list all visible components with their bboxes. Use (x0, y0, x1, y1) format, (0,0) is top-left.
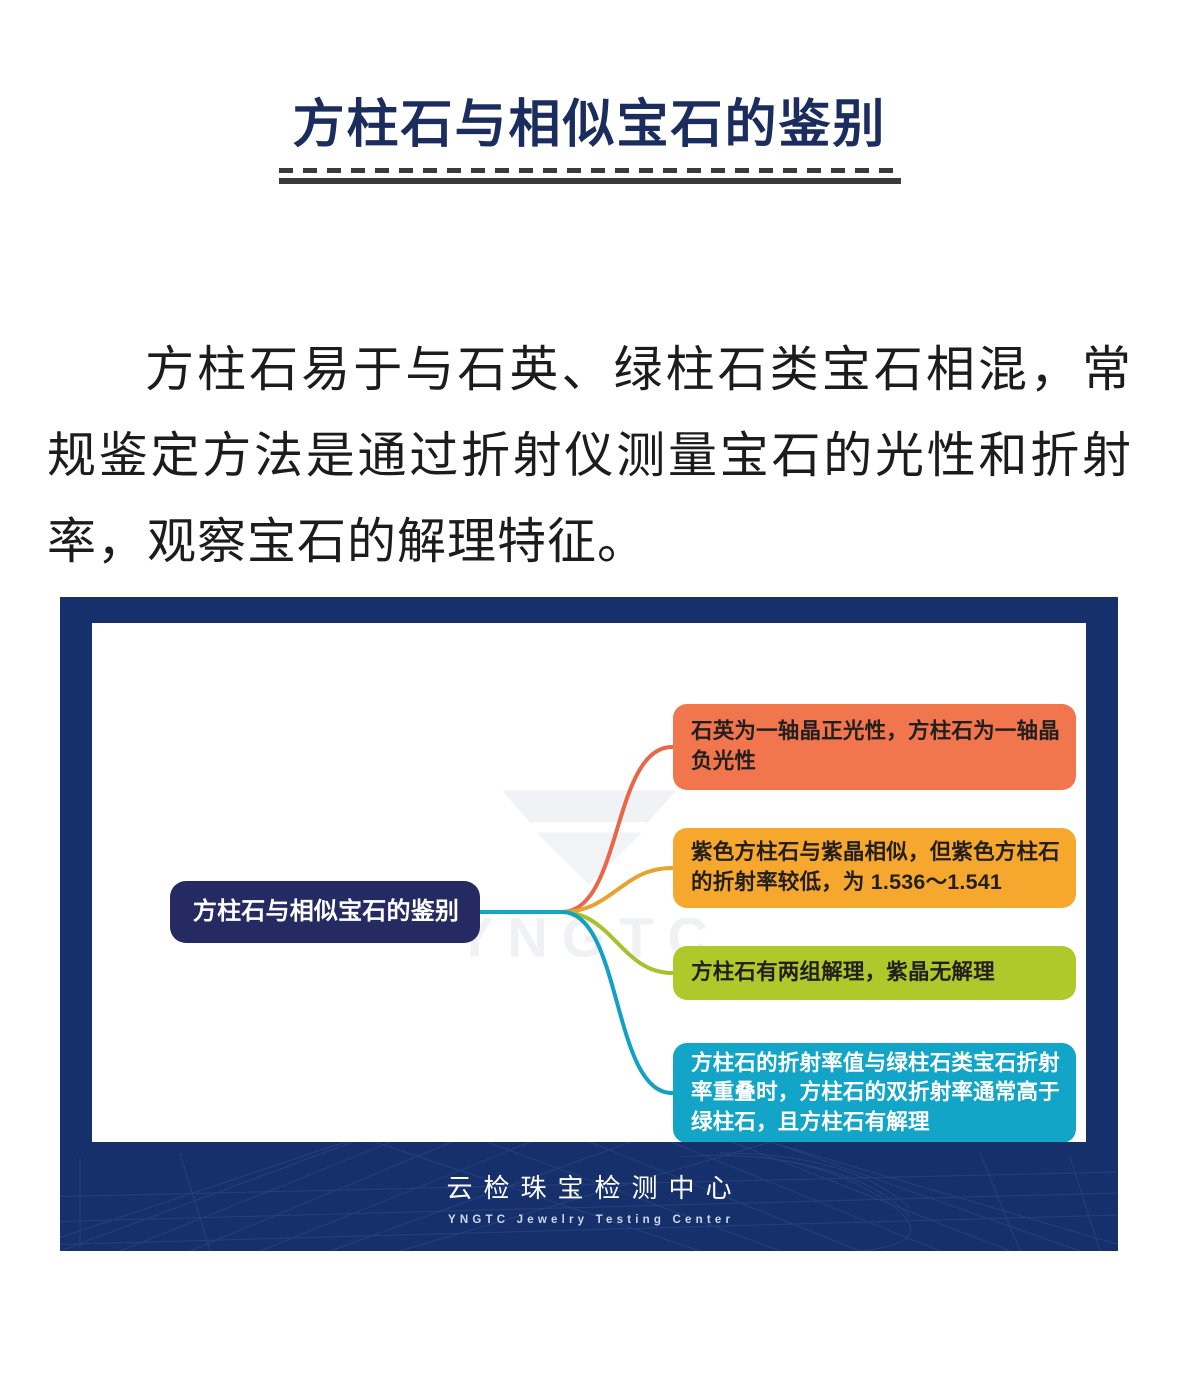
mindmap-root-node[interactable]: 方柱石与相似宝石的鉴别 (170, 881, 480, 943)
mindmap-card: YNGTC 方柱石与相似宝石的鉴别 石英为一轴晶正光性，方柱石 (60, 597, 1118, 1251)
page-title-block: 方柱石与相似宝石的鉴别 (0, 96, 1179, 184)
title-solid-rule (279, 178, 901, 184)
body-paragraph: 方柱石易于与石英、绿柱石类宝石相混，常规鉴定方法是通过折射仪测量宝石的光性和折射… (47, 327, 1132, 585)
footer-company-name-en: YNGTC Jewelry Testing Center (444, 1214, 734, 1226)
mindmap-branch-node-beryl[interactable]: 方柱石的折射率值与绿柱石类宝石折射率重叠时，方柱石的双折射率通常高于绿柱石，且方… (673, 1043, 1076, 1142)
mindmap-root-label: 方柱石与相似宝石的鉴别 (193, 895, 459, 928)
mindmap-branch-label-refractive-index: 紫色方柱石与紫晶相似，但紫色方柱石的折射率较低，为 1.536～1.541 (691, 838, 1060, 897)
mindmap-diagram: 方柱石与相似宝石的鉴别 石英为一轴晶正光性，方柱石为一轴晶负光性 紫色方柱石与紫… (92, 623, 1086, 1142)
mindmap-branch-node-refractive-index[interactable]: 紫色方柱石与紫晶相似，但紫色方柱石的折射率较低，为 1.536～1.541 (673, 828, 1076, 908)
mindmap-branch-node-optics[interactable]: 石英为一轴晶正光性，方柱石为一轴晶负光性 (673, 704, 1076, 790)
mindmap-branch-label-optics: 石英为一轴晶正光性，方柱石为一轴晶负光性 (691, 717, 1060, 776)
card-footer: 云检珠宝检测中心 YNGTC Jewelry Testing Center (60, 1148, 1118, 1251)
title-dashed-rule (279, 168, 901, 173)
footer-company-name-cn: 云检珠宝检测中心 (435, 1173, 742, 1204)
title-underline-group (279, 168, 901, 184)
mindmap-canvas: YNGTC 方柱石与相似宝石的鉴别 石英为一轴晶正光性，方柱石 (92, 623, 1086, 1142)
mindmap-branch-label-beryl: 方柱石的折射率值与绿柱石类宝石折射率重叠时，方柱石的双折射率通常高于绿柱石，且方… (691, 1049, 1060, 1138)
page-title: 方柱石与相似宝石的鉴别 (0, 96, 1179, 156)
mindmap-branch-label-cleavage: 方柱石有两组解理，紫晶无解理 (691, 958, 995, 988)
mindmap-branch-node-cleavage[interactable]: 方柱石有两组解理，紫晶无解理 (673, 946, 1076, 1000)
